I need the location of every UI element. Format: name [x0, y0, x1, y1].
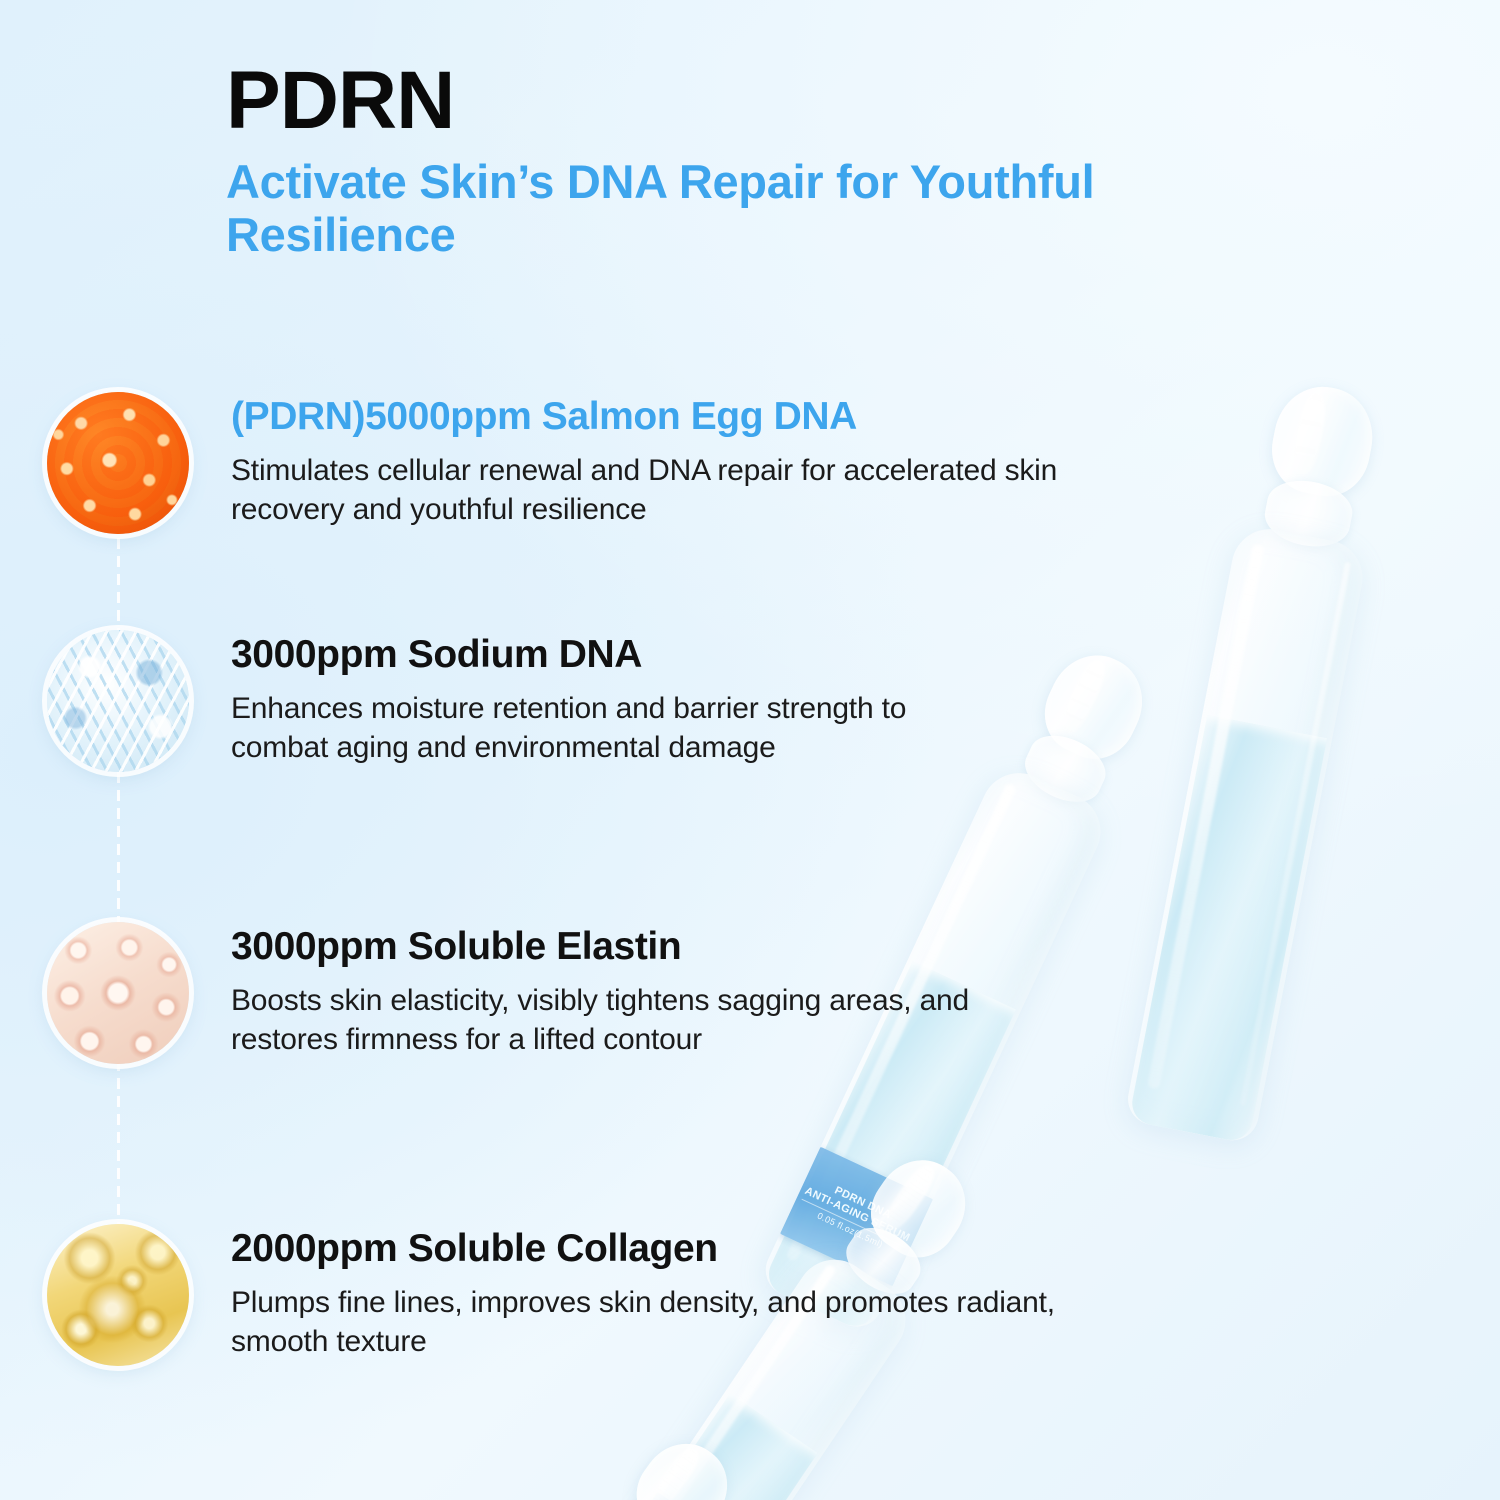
feature-title: (PDRN)5000ppm Salmon Egg DNA [231, 396, 1111, 439]
feature-item: 3000ppm Soluble Elastin Boosts skin elas… [47, 922, 1087, 1064]
feature-title: 3000ppm Soluble Elastin [231, 926, 1031, 969]
ampoule-liquid [593, 1394, 818, 1500]
ampoule-cap [1264, 379, 1381, 504]
collagen-oil-bubbles-icon [47, 1224, 189, 1366]
salmon-roe-icon [47, 392, 189, 534]
skin-cells-icon [47, 922, 189, 1064]
feature-title: 3000ppm Sodium DNA [231, 634, 971, 677]
ampoule-liquid [1129, 715, 1327, 1144]
feature-description: Stimulates cellular renewal and DNA repa… [231, 451, 1111, 529]
ampoule-neck [1260, 474, 1357, 553]
page-subtitle: Activate Skin’s DNA Repair for Youthful … [226, 155, 1216, 262]
label-line-1: PDRN DNA [832, 1185, 893, 1223]
feature-item: (PDRN)5000ppm Salmon Egg DNA Stimulates … [47, 392, 1127, 534]
infographic-canvas: PDRN DNA ANTI-AGING SERUM 0.05 fl.oz(1.5… [0, 0, 1500, 1500]
page-title: PDRN [226, 62, 1266, 141]
ampoule-highlight [1147, 544, 1264, 1089]
feature-title: 2000ppm Soluble Collagen [231, 1228, 1091, 1271]
feature-description: Boosts skin elasticity, visibly tightens… [231, 981, 1031, 1059]
ampoule-neck [601, 1495, 693, 1500]
feature-description: Enhances moisture retention and barrier … [231, 689, 971, 767]
ampoule-cap [1031, 641, 1157, 772]
feature-description: Plumps fine lines, improves skin density… [231, 1283, 1091, 1361]
ampoule-body [1124, 523, 1370, 1145]
timeline-dashed-line [117, 430, 120, 1320]
feature-item: 2000ppm Soluble Collagen Plumps fine lin… [47, 1224, 1127, 1366]
feature-item: 3000ppm Sodium DNA Enhances moisture ret… [47, 630, 1047, 772]
ampoule-label: PDRN DNA ANTI-AGING SERUM 0.05 fl.oz(1.5… [604, 1491, 755, 1500]
dna-helix-icon [47, 630, 189, 772]
ampoule-back-right [1114, 374, 1406, 1149]
ampoule-bottom-left [482, 1414, 762, 1500]
ampoule-highlight [1239, 562, 1351, 1106]
ampoule-cap [622, 1427, 744, 1500]
header: PDRN Activate Skin’s DNA Repair for Yout… [226, 62, 1266, 262]
